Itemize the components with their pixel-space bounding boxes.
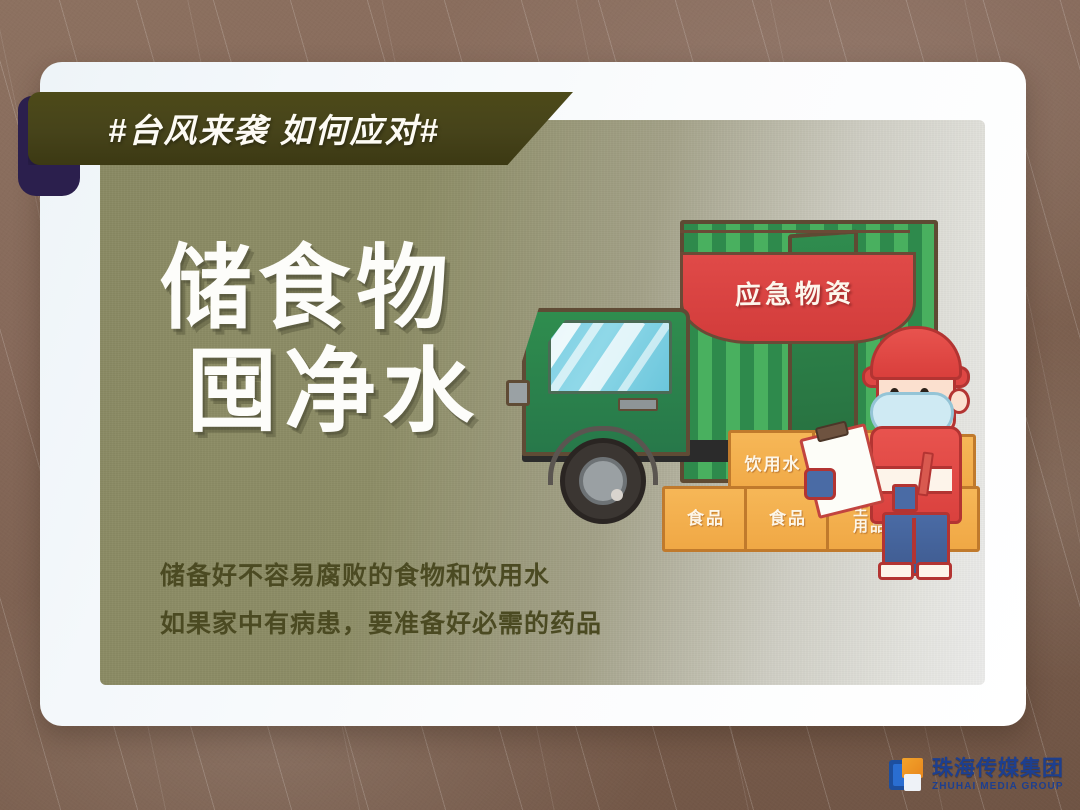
- truck-wheel: [560, 438, 646, 524]
- brand-logo: 珠海传媒集团 ZHUHAI MEDIA GROUP: [889, 758, 1064, 792]
- jacket-pocket: [892, 484, 918, 512]
- zhuhai-media-mark-icon: [889, 758, 923, 792]
- truck-wheel-hub: [611, 489, 623, 501]
- glove-icon: [804, 468, 836, 500]
- brand-name-en: ZHUHAI MEDIA GROUP: [932, 782, 1064, 792]
- emergency-supplies-banner-text: 应急物资: [688, 272, 903, 313]
- brand-name-cn: 珠海传媒集团: [932, 758, 1064, 779]
- truck-windshield: [548, 320, 672, 394]
- illustration-scene: 应急物资 饮用水 药品 食品 食品: [500, 190, 1000, 590]
- red-cap-icon: [870, 326, 962, 380]
- ribbon-title: #台风来袭 如何应对#: [108, 104, 578, 152]
- body-line-2: 如果家中有病患，要准备好必需的药品: [160, 600, 680, 648]
- truck-door-handle-cab: [618, 398, 658, 411]
- truck-mirror: [506, 380, 530, 406]
- supply-box-food-1: 食品: [662, 486, 750, 552]
- truck-wheel-rim: [579, 457, 627, 505]
- poster-canvas: #台风来袭 如何应对# 储食物 囤净水 储备好不容易腐败的食物和饮用水 如果家中…: [0, 0, 1080, 810]
- worker-shoe-right: [916, 562, 952, 580]
- pants-seam: [912, 518, 916, 564]
- volunteer-worker: [856, 326, 976, 576]
- brand-logo-text: 珠海传媒集团 ZHUHAI MEDIA GROUP: [932, 758, 1064, 792]
- worker-shoe-left: [878, 562, 914, 580]
